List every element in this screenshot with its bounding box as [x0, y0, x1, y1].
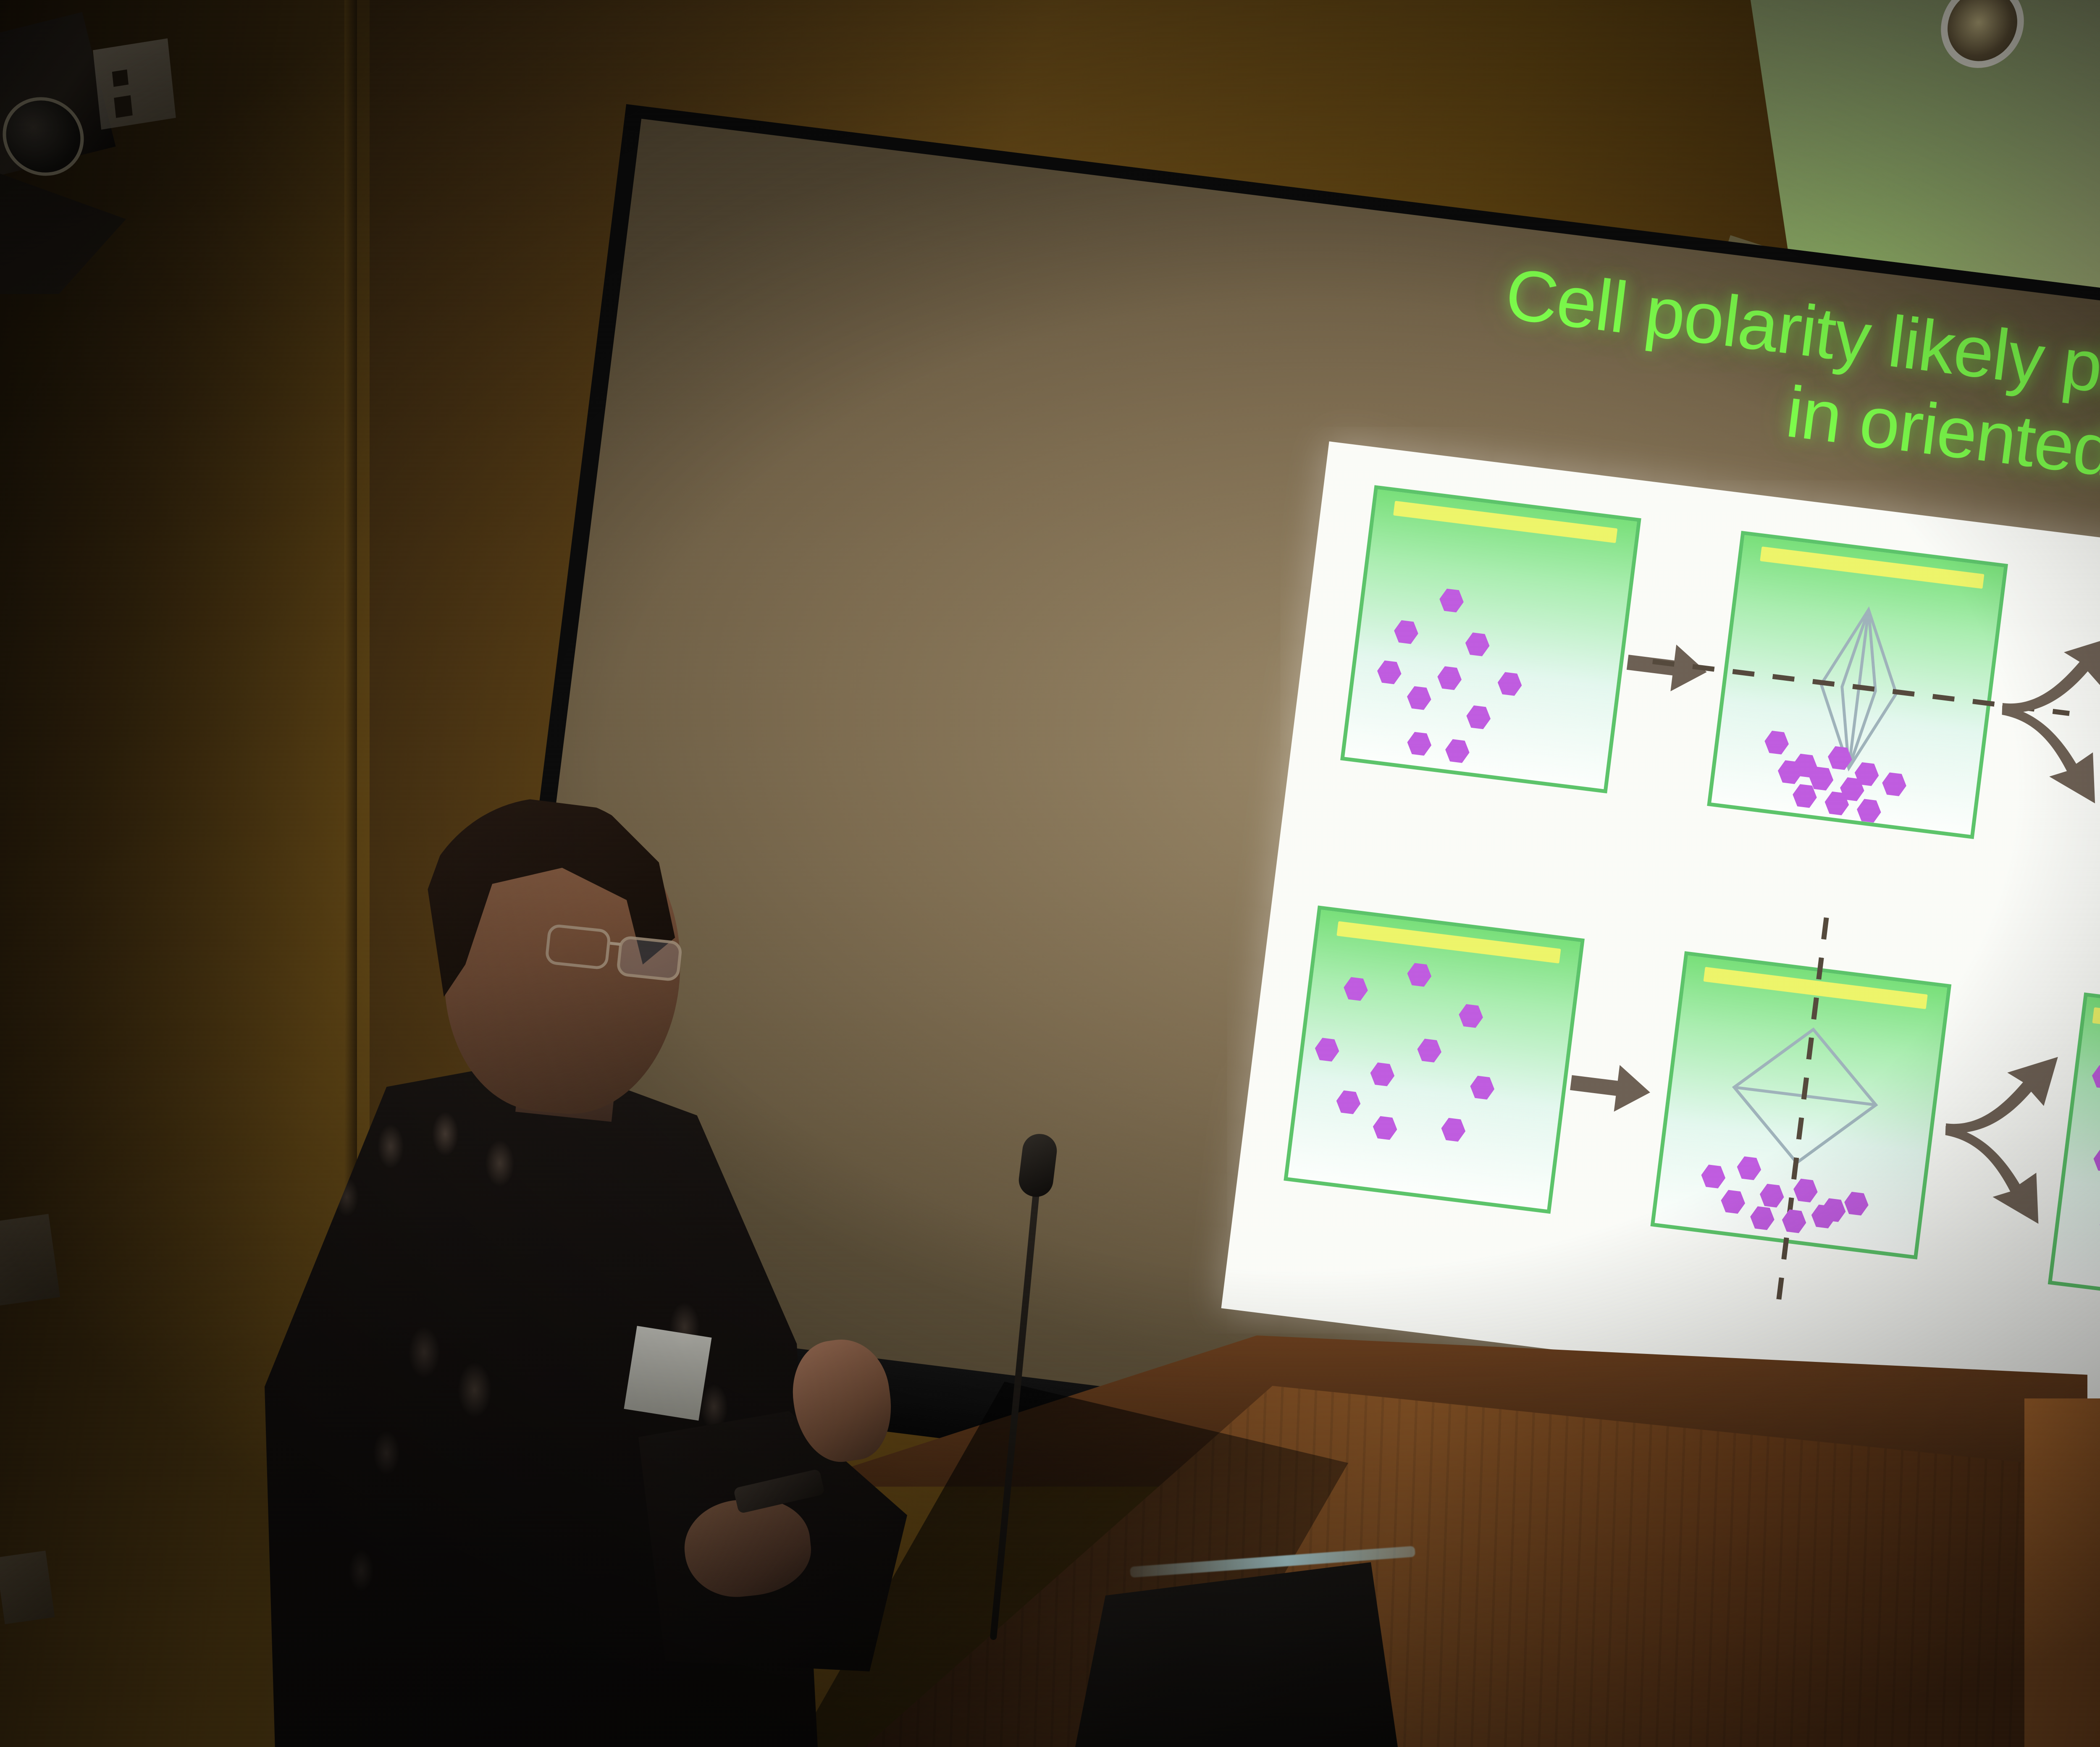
branching-arrow-icon — [1982, 606, 2100, 813]
diagram-row-symmetric — [1283, 897, 2100, 1314]
glasses-lens-left — [545, 923, 612, 970]
protein-dot — [1749, 1204, 1776, 1232]
diagram-row-asymmetric — [1340, 485, 2100, 886]
protein-dot — [1843, 1190, 1870, 1217]
protein-dot — [1335, 1089, 1362, 1116]
protein-dot — [1457, 1002, 1485, 1030]
apical-bar-icon — [1336, 921, 1561, 963]
protein-dot — [1369, 1061, 1396, 1088]
protein-dot — [1496, 670, 1523, 698]
protein-dot — [1313, 1036, 1341, 1063]
cell-panel-dividing-asymmetric — [1707, 531, 2008, 839]
apical-bar-icon — [2092, 1007, 2100, 1036]
apical-bar-icon — [1393, 501, 1618, 543]
protein-dot — [1855, 797, 1882, 824]
protein-dot — [2090, 1063, 2100, 1091]
apical-bar-icon — [1760, 546, 1984, 589]
protein-dot — [1465, 704, 1492, 731]
cell-panel-undivided — [1340, 485, 1641, 793]
protein-dot — [2098, 1212, 2100, 1240]
protein-dot — [1763, 729, 1790, 756]
protein-dot — [1444, 737, 1471, 765]
protein-dot — [1375, 659, 1403, 686]
name-badge — [624, 1326, 711, 1421]
protein-dot — [1342, 976, 1370, 1003]
protein-dot — [1406, 730, 1433, 758]
protein-dot — [1405, 685, 1433, 712]
protein-dot — [1469, 1074, 1496, 1102]
podium-side-face — [2024, 1398, 2100, 1747]
protein-dot — [1440, 1116, 1467, 1144]
cell-panel-dividing-symmetric — [1651, 951, 1952, 1259]
lecture-hall-scene: Assistive Listening Device Available fro… — [0, 0, 2100, 1747]
protein-dot — [1464, 631, 1491, 658]
protein-dot — [1371, 1115, 1399, 1142]
branching-arrow-icon — [1926, 1026, 2075, 1234]
process-arrow-icon — [1562, 1035, 1673, 1131]
protein-dot — [1393, 619, 1420, 646]
presenter — [227, 790, 941, 1747]
protein-dot — [2092, 1146, 2100, 1174]
protein-dot — [1719, 1188, 1747, 1215]
protein-dot — [1416, 1037, 1443, 1064]
protein-dot — [1406, 961, 1433, 989]
cell-panel-undivided — [1284, 905, 1585, 1214]
protein-dot — [1438, 587, 1465, 614]
protein-dot — [1436, 664, 1463, 692]
wall-plaque — [0, 1550, 55, 1624]
glasses-lens-right — [616, 935, 683, 982]
protein-dot — [1700, 1163, 1727, 1190]
protein-dot — [1758, 1182, 1785, 1209]
